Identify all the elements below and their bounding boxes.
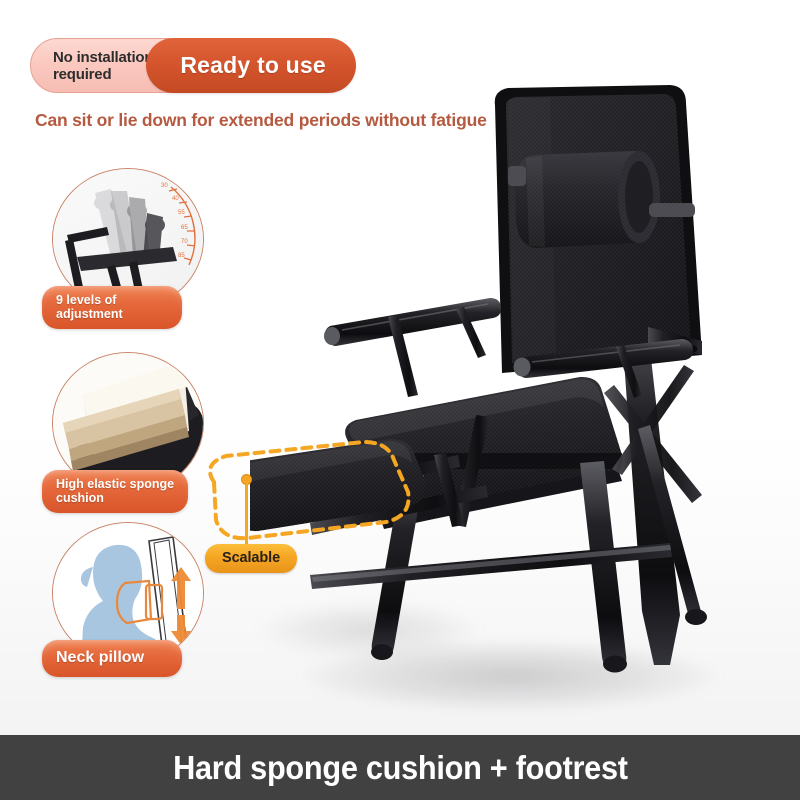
neck-pillow-badge-label: Neck pillow xyxy=(56,649,168,667)
ready-to-use-pill[interactable]: Ready to use xyxy=(146,38,356,93)
frame-leg-front-right xyxy=(580,461,627,673)
adjustment-badge-line2: adjustment xyxy=(56,307,168,321)
product-photo-chair xyxy=(250,55,730,715)
adjustment-badge-line1: 9 levels of xyxy=(56,293,168,307)
feature-neck-pillow[interactable]: Neck pillow xyxy=(42,522,220,664)
footrest-highlight-outline xyxy=(196,440,416,550)
sponge-badge-line2: cushion xyxy=(56,491,174,505)
scalable-leader-line xyxy=(245,482,248,544)
no-installation-pill-label: No installation required xyxy=(53,49,153,83)
sponge-badge-line1: High elastic sponge xyxy=(56,477,174,491)
banner-subtitle: Can sit or lie down for extended periods… xyxy=(35,110,487,131)
svg-text:85: 85 xyxy=(178,253,185,259)
feature-adjustment[interactable]: 30 40 55 65 70 85 9 levels of adjustment xyxy=(42,168,220,310)
pillow-strap-right xyxy=(649,203,695,217)
svg-text:30: 30 xyxy=(161,183,168,189)
pillow-strap-left xyxy=(508,166,526,186)
scalable-badge-label: Scalable xyxy=(222,550,280,566)
bottom-banner: Hard sponge cushion + footrest xyxy=(0,735,800,800)
svg-text:40: 40 xyxy=(172,196,179,202)
ready-to-use-label: Ready to use xyxy=(180,52,326,79)
svg-text:55: 55 xyxy=(178,210,185,216)
top-banner: No installation required Ready to use xyxy=(30,38,356,93)
neck-pillow-badge[interactable]: Neck pillow xyxy=(42,640,182,677)
bottom-banner-label: Hard sponge cushion + footrest xyxy=(173,749,628,787)
no-installation-line1: No installation xyxy=(53,49,153,66)
sponge-cushion-badge[interactable]: High elastic sponge cushion xyxy=(42,470,188,513)
product-image-canvas: Scalable No installation required Ready … xyxy=(0,0,800,800)
no-installation-line2: required xyxy=(53,66,111,83)
adjustment-badge[interactable]: 9 levels of adjustment xyxy=(42,286,182,329)
svg-text:65: 65 xyxy=(181,225,188,231)
svg-text:70: 70 xyxy=(181,239,188,245)
feature-sponge-cushion[interactable]: High elastic sponge cushion xyxy=(42,352,220,494)
